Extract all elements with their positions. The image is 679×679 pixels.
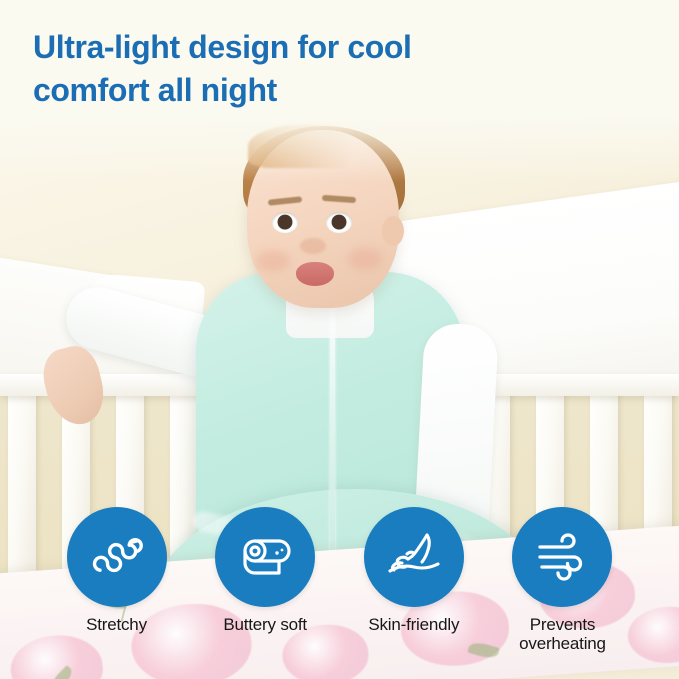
feature-label-stretchy: Stretchy [86, 615, 147, 634]
feature-list: Stretchy Buttery soft [0, 507, 679, 653]
feature-badge-stretchy [67, 507, 167, 607]
baby-cheek-left [256, 250, 290, 272]
baby-nose [300, 238, 326, 254]
feature-label-skin-friendly: Skin-friendly [368, 615, 459, 634]
wind-airflow-icon [530, 525, 594, 589]
feature-badge-prevents-overheating [512, 507, 612, 607]
baby-hair-highlight [248, 124, 368, 168]
feature-badge-buttery-soft [215, 507, 315, 607]
product-feature-banner: Ultra-light design for cool comfort all … [0, 0, 679, 679]
feature-stretchy[interactable]: Stretchy [54, 507, 179, 653]
baby-ear [382, 216, 404, 246]
feature-skin-friendly[interactable]: Skin-friendly [351, 507, 476, 653]
feature-buttery-soft[interactable]: Buttery soft [203, 507, 328, 653]
feature-label-buttery-soft: Buttery soft [223, 615, 307, 634]
feature-label-prevents-overheating: Prevents overheating [519, 615, 606, 653]
spring-coil-icon [85, 525, 149, 589]
page-title: Ultra-light design for cool comfort all … [33, 26, 573, 111]
feature-badge-skin-friendly [364, 507, 464, 607]
baby-eye-right [326, 212, 352, 233]
hand-touching-fabric-icon [382, 525, 446, 589]
baby-eye-left [272, 212, 298, 233]
fabric-roll-icon [233, 525, 297, 589]
feature-prevents-overheating[interactable]: Prevents overheating [500, 507, 625, 653]
baby-cheek-right [348, 248, 382, 270]
baby-mouth [296, 262, 334, 286]
